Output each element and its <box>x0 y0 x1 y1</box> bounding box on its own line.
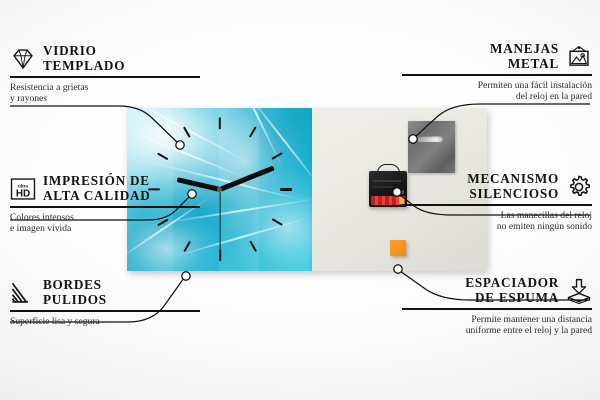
feature-subtitle: Permiten una fácil instalación del reloj… <box>402 80 592 103</box>
feature-impresion-alta-calidad: ultra HD IMPRESIÓN DE ALTA CALIDAD Color… <box>10 174 200 235</box>
metal-hanger-plate <box>408 121 455 173</box>
divider <box>10 76 200 78</box>
movement-detail <box>373 186 393 188</box>
ultra-hd-icon: ultra HD <box>10 176 36 202</box>
movement-bail <box>377 164 400 174</box>
feature-title: IMPRESIÓN DE ALTA CALIDAD <box>43 174 151 203</box>
feature-subtitle: Las manecillas del reloj no emiten ningú… <box>402 210 592 233</box>
divider <box>402 204 592 206</box>
feature-mecanismo-silencioso: MECANISMO SILENCIOSO Las manecillas del … <box>402 172 592 233</box>
clock-second-hand <box>219 190 220 252</box>
feature-title: VIDRIO TEMPLADO <box>43 44 125 73</box>
feature-title: BORDES PULIDOS <box>43 278 107 307</box>
svg-text:HD: HD <box>16 188 30 199</box>
divider <box>10 310 200 312</box>
feature-vidrio-templado: VIDRIO TEMPLADO Resistencia a grietas y … <box>10 44 200 105</box>
feature-subtitle: Superficie lisa y segura <box>10 316 200 327</box>
movement-detail <box>373 180 401 182</box>
infographic-canvas: VIDRIO TEMPLADO Resistencia a grietas y … <box>0 0 600 400</box>
feature-subtitle: Permite mantener una distancia uniforme … <box>402 314 592 337</box>
diamond-icon <box>10 46 36 72</box>
divider <box>402 74 592 76</box>
feature-subtitle: Resistencia a grietas y rayones <box>10 82 200 105</box>
feature-espaciador-espuma: ESPACIADOR DE ESPUMA Permite mantener un… <box>402 276 592 337</box>
polished-edge-stripes-icon <box>10 280 36 306</box>
svg-text:ultra: ultra <box>18 183 28 188</box>
hanger-slot <box>417 136 443 142</box>
battery-label <box>371 196 405 205</box>
arrow-down-pad-icon <box>566 278 592 304</box>
orange-foam-spacer <box>390 240 406 256</box>
divider <box>402 308 592 310</box>
feature-subtitle: Colores intensos e imagen vívida <box>10 212 200 235</box>
picture-frame-hanging-icon <box>566 44 592 70</box>
feature-bordes-pulidos: BORDES PULIDOS Superficie lisa y segura <box>10 278 200 327</box>
feature-title: MANEJAS METAL <box>490 42 559 71</box>
feature-manejas-metal: MANEJAS METAL Permiten una fácil instala… <box>402 42 592 103</box>
clock-center-hub <box>217 187 222 192</box>
divider <box>10 206 200 208</box>
gear-icon <box>566 174 592 200</box>
feature-title: MECANISMO SILENCIOSO <box>467 172 559 201</box>
feature-title: ESPACIADOR DE ESPUMA <box>465 276 559 305</box>
